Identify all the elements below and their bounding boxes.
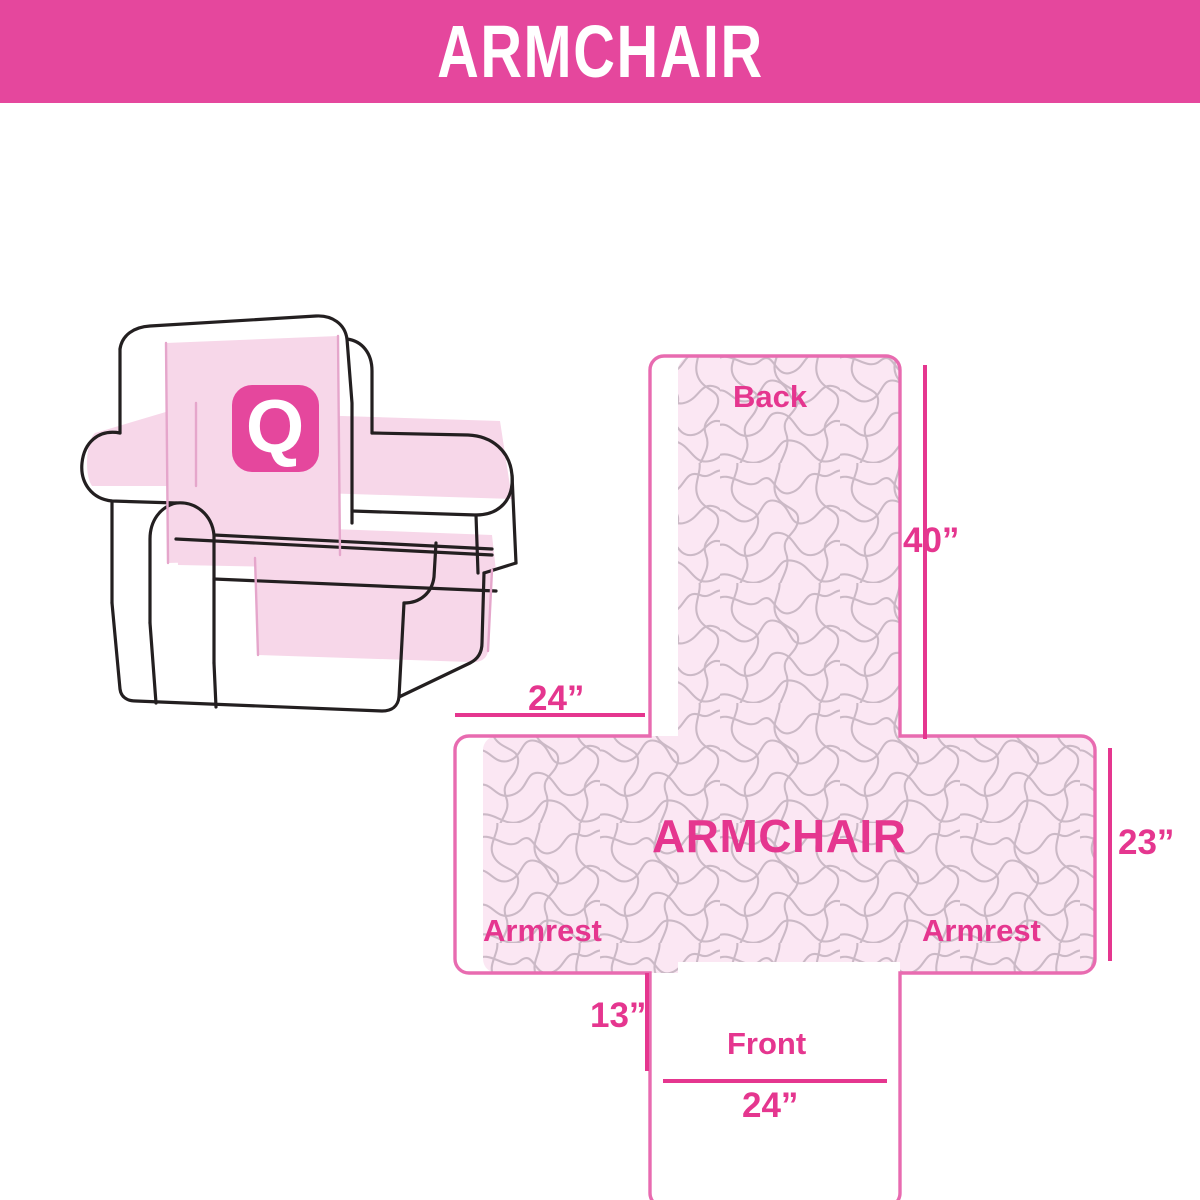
panel-label-back: Back: [733, 381, 807, 412]
header-banner: ARMCHAIR: [0, 0, 1200, 103]
dimension-label-armrest-top: 24”: [528, 681, 584, 716]
panel-label-armrest-right: Armrest: [922, 915, 1041, 946]
dimension-label-front-width: 24”: [742, 1088, 798, 1123]
dimension-label-front-drop: 13”: [590, 998, 646, 1033]
panel-label-front: Front: [727, 1028, 806, 1059]
dimension-label-seat-depth: 23”: [1118, 825, 1174, 860]
armchair-illustration: Q: [82, 316, 516, 711]
flat-pattern-cross: [440, 343, 1120, 1200]
diagram-page: ARMCHAIR: [0, 0, 1200, 1200]
flat-pattern-center-label: ARMCHAIR: [652, 813, 906, 859]
brand-logo-badge: Q: [232, 384, 319, 472]
dimension-label-back-height: 40”: [903, 523, 959, 558]
page-title: ARMCHAIR: [437, 15, 764, 89]
diagram-stage: Q: [0, 103, 1200, 1200]
svg-text:Q: Q: [246, 384, 304, 468]
panel-label-armrest-left: Armrest: [483, 915, 602, 946]
diagram-svg: Q: [0, 103, 1200, 1200]
